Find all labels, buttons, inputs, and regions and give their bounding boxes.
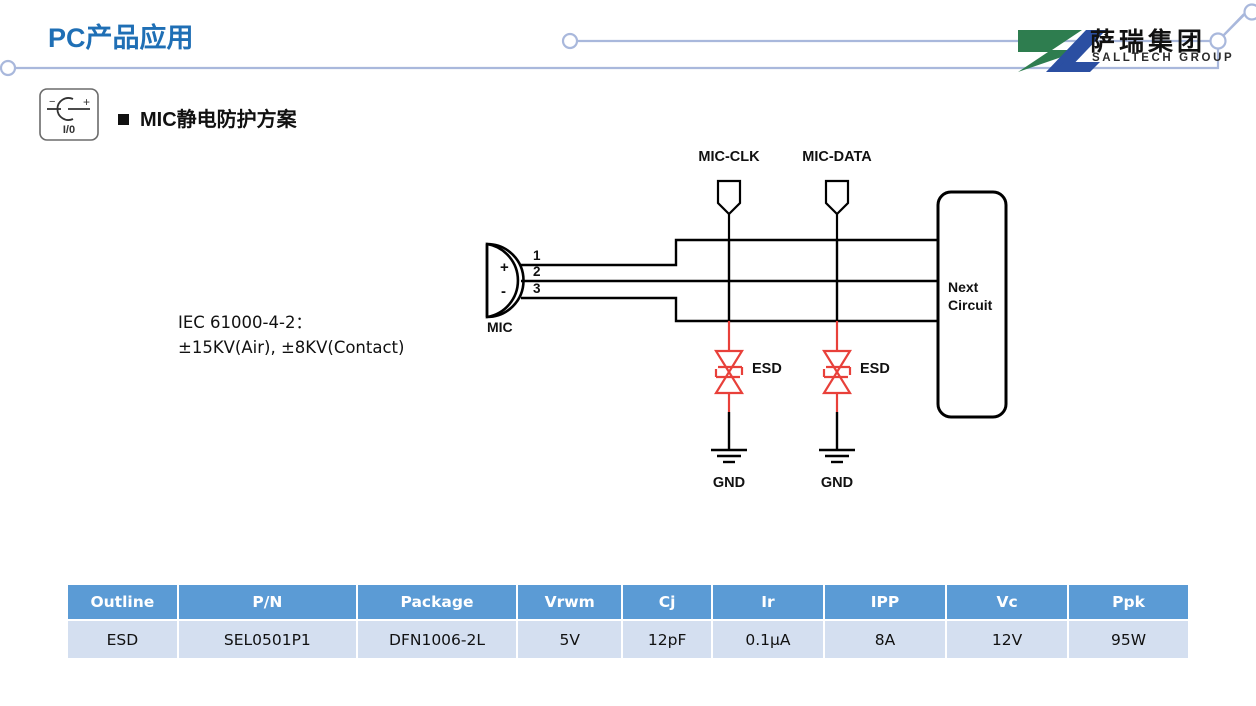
- pin-label-1: 1: [533, 248, 541, 263]
- gnd-label-1: GND: [713, 475, 745, 491]
- signal-flag-mic-data: MIC-DATA: [802, 149, 872, 240]
- cell-vrwm: 5V: [517, 620, 622, 658]
- gnd-label-2: GND: [821, 475, 853, 491]
- signal-label-mic-clk: MIC-CLK: [698, 149, 760, 165]
- page-title: PC产品应用: [48, 16, 194, 55]
- cell-package: DFN1006-2L: [357, 620, 517, 658]
- cell-cj: 12pF: [622, 620, 712, 658]
- cell-ppk: 95W: [1068, 620, 1188, 658]
- cell-pn: SEL0501P1: [178, 620, 357, 658]
- next-circuit-line2: Circuit: [948, 297, 993, 313]
- table-header-row: Outline P/N Package Vrwm Cj Ir IPP Vc Pp…: [68, 585, 1188, 620]
- esd-device-1: ESD: [716, 321, 782, 412]
- column-header-package: Package: [357, 585, 517, 620]
- wiring: [521, 240, 940, 321]
- esd-device-2: ESD: [824, 321, 890, 412]
- column-header-cj: Cj: [622, 585, 712, 620]
- cell-ir: 0.1µA: [712, 620, 824, 658]
- ground-symbol-2: [819, 412, 855, 462]
- connector-label: MIC: [487, 319, 513, 335]
- column-header-pn: P/N: [178, 585, 357, 620]
- brand-name-en: SALLTECH GROUP: [1092, 52, 1234, 64]
- mic-connector: + - MIC: [487, 244, 524, 335]
- signal-flag-mic-clk: MIC-CLK: [698, 149, 760, 240]
- column-header-ipp: IPP: [824, 585, 946, 620]
- ground-symbol-1: [711, 412, 747, 462]
- cell-ipp: 8A: [824, 620, 946, 658]
- cell-outline: ESD: [68, 620, 178, 658]
- column-header-outline: Outline: [68, 585, 178, 620]
- column-header-ir: Ir: [712, 585, 824, 620]
- signal-label-mic-data: MIC-DATA: [802, 149, 872, 165]
- esd-label-2: ESD: [860, 361, 890, 377]
- next-circuit-line1: Next: [948, 279, 979, 295]
- next-circuit-block: Next Circuit: [938, 192, 1006, 417]
- table-row: ESD SEL0501P1 DFN1006-2L 5V 12pF 0.1µA 8…: [68, 620, 1188, 658]
- esd-label-1: ESD: [752, 361, 782, 377]
- spec-table: Outline P/N Package Vrwm Cj Ir IPP Vc Pp…: [68, 585, 1188, 658]
- cell-vc: 12V: [946, 620, 1068, 658]
- pin-label-2: 2: [533, 264, 541, 279]
- connector-plus-label: +: [500, 259, 509, 276]
- column-header-ppk: Ppk: [1068, 585, 1188, 620]
- circuit-diagram: + - MIC 1 2 3 MIC-CLK MIC-DATA: [0, 0, 1256, 560]
- pin-label-3: 3: [533, 281, 541, 296]
- column-header-vc: Vc: [946, 585, 1068, 620]
- connector-minus-label: -: [501, 283, 506, 300]
- column-header-vrwm: Vrwm: [517, 585, 622, 620]
